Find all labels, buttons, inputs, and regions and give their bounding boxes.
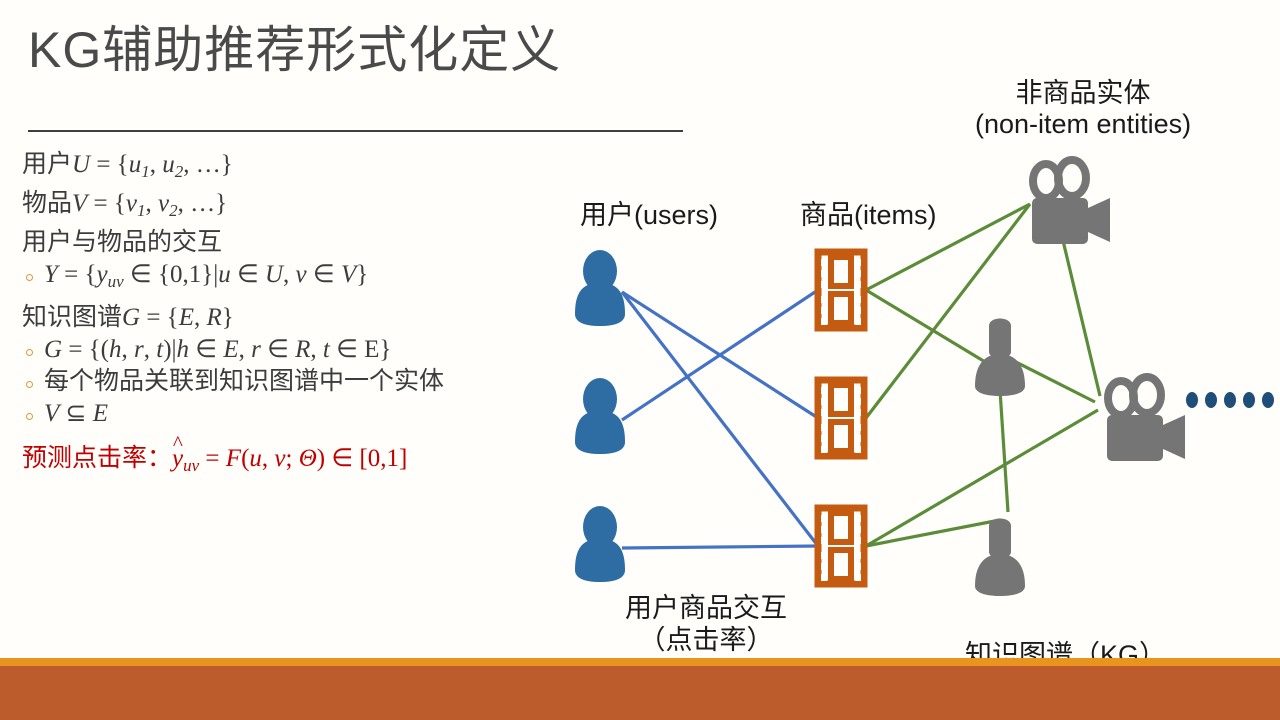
item-nodes — [818, 252, 864, 584]
user-item-edges — [622, 290, 818, 548]
list-item-items-set: 物品V = {v1, v2, …} — [22, 191, 582, 219]
movie-camera-icon — [1032, 160, 1110, 244]
label-items: 商品(items) — [800, 200, 937, 231]
user-icon — [575, 250, 625, 326]
footer-bar — [0, 666, 1280, 720]
list-item-kg-set: 知识图谱G = {E, R} — [22, 305, 582, 330]
label-interaction-subtitle: （点击率） — [625, 624, 787, 656]
bullet-dot-icon — [26, 274, 33, 281]
label-users: 用户(users) — [580, 200, 718, 231]
user-nodes — [575, 250, 625, 582]
bullet-dot-icon — [26, 349, 33, 356]
footer-accent-stripe — [0, 658, 1280, 666]
label-non-item-entities-en: (non-item entities) — [975, 109, 1191, 140]
label-non-item-entities-cn: 非商品实体 — [975, 78, 1191, 109]
list-item-kg-triple: G = {(h, r, t)|h ∈ E, r ∈ R, t ∈ E} — [22, 337, 582, 362]
film-strip-icon — [818, 508, 864, 584]
ellipsis-dots-icon — [1186, 392, 1280, 408]
list-item-item-entity: 每个物品关联到知识图谱中一个实体 — [22, 369, 582, 394]
bullet-dot-icon — [26, 381, 33, 388]
actor-person-icon — [975, 519, 1025, 597]
list-item-subset: V ⊆ E — [22, 401, 582, 426]
film-strip-icon — [818, 380, 864, 456]
diagram-graph — [560, 60, 1280, 680]
kg-recommendation-diagram: 用户(users) 商品(items) 非商品实体 (non-item enti… — [560, 60, 1280, 680]
actor-person-icon — [975, 319, 1025, 397]
entity-nodes — [975, 160, 1185, 596]
label-non-item-entities: 非商品实体 (non-item entities) — [975, 78, 1191, 140]
list-item-interaction-def: Y = {yuv ∈ {0,1}|u ∈ U, v ∈ V} — [22, 262, 582, 290]
label-user-item-interaction: 用户商品交互 （点击率） — [625, 592, 787, 657]
user-icon — [575, 378, 625, 454]
list-item-users-set: 用户U = {u1, u2, …} — [22, 152, 582, 180]
movie-camera-icon — [1107, 377, 1185, 461]
ctr-prediction-formula: 预测点击率：yuv = F(u, v; Θ) ∈ [0,1] — [22, 446, 582, 474]
definition-list: 用户U = {u1, u2, …} 物品V = {v1, v2, …} 用户与物… — [22, 152, 582, 485]
ctr-prediction-label: 预测点击率： — [22, 445, 172, 472]
user-icon — [575, 506, 625, 582]
page-title: KG辅助推荐形式化定义 — [28, 22, 561, 78]
list-item-interaction-heading: 用户与物品的交互 — [22, 230, 582, 255]
bullet-dot-icon — [26, 413, 33, 420]
label-interaction-title: 用户商品交互 — [625, 592, 787, 624]
film-strip-icon — [818, 252, 864, 328]
slide-canvas: KG辅助推荐形式化定义 用户U = {u1, u2, …} 物品V = {v1,… — [0, 0, 1280, 720]
